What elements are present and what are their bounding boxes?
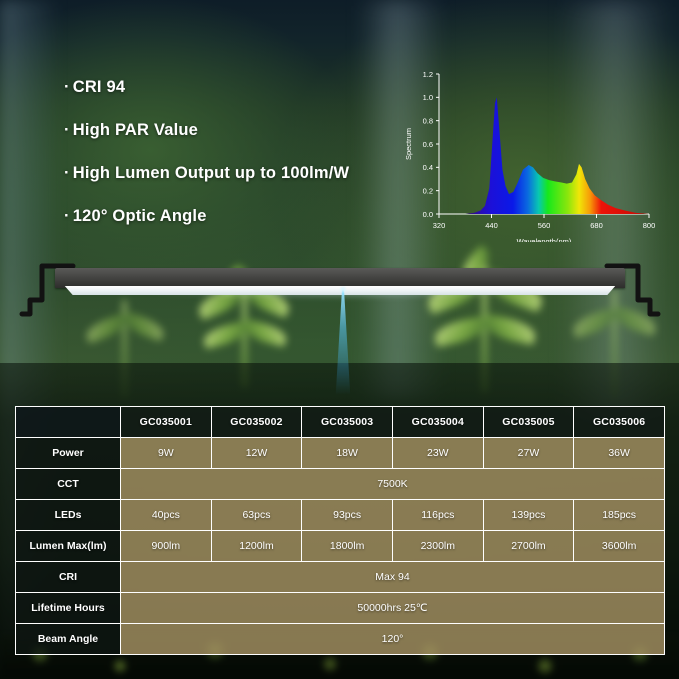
cell-lumen-3: 1800lm (302, 531, 393, 562)
feature-label: CRI 94 (73, 78, 126, 96)
bullet-icon: · (64, 121, 70, 139)
table-header-model: GC035005 (483, 407, 574, 438)
cell-power-5: 27W (483, 438, 574, 469)
table-row: LEDs 40pcs 63pcs 93pcs 116pcs 139pcs 185… (16, 500, 665, 531)
row-label-lumen: Lumen Max(lm) (16, 531, 121, 562)
cell-power-6: 36W (574, 438, 665, 469)
feature-item: ·CRI 94 (64, 78, 404, 97)
cell-leds-1: 40pcs (121, 500, 212, 531)
product-infographic: ·CRI 94 ·High PAR Value ·High Lumen Outp… (0, 0, 679, 679)
cell-leds-3: 93pcs (302, 500, 393, 531)
svg-text:680: 680 (590, 221, 603, 230)
row-label-lifetime: Lifetime Hours (16, 593, 121, 624)
table-corner-cell (16, 407, 121, 438)
row-label-cct: CCT (16, 469, 121, 500)
cell-lumen-5: 2700lm (483, 531, 574, 562)
bullet-icon: · (64, 78, 70, 96)
svg-text:1.0: 1.0 (423, 93, 433, 102)
table-header-model: GC035001 (121, 407, 212, 438)
table-header-model: GC035006 (574, 407, 665, 438)
table-row: Beam Angle 120° (16, 624, 665, 655)
table-row: Lifetime Hours 50000hrs 25℃ (16, 593, 665, 624)
x-axis-label: Wavelength(nm) (517, 237, 572, 242)
bullet-icon: · (64, 207, 70, 225)
cell-lumen-2: 1200lm (211, 531, 302, 562)
spectrum-curve (465, 97, 649, 214)
feature-item: ·120° Optic Angle (64, 207, 404, 226)
cell-cri-all: Max 94 (121, 562, 665, 593)
table-header-model: GC035004 (392, 407, 483, 438)
cell-lifetime-all: 50000hrs 25℃ (121, 593, 665, 624)
cell-beam-angle-all: 120° (121, 624, 665, 655)
specification-table: GC035001 GC035002 GC035003 GC035004 GC03… (15, 406, 665, 655)
table-header-model: GC035002 (211, 407, 302, 438)
led-light-bar (0, 250, 679, 360)
cell-lumen-1: 900lm (121, 531, 212, 562)
spectrum-chart-svg: 0.00.20.40.60.81.01.2320440560680800 Wav… (403, 62, 655, 242)
light-bar-housing (55, 268, 625, 288)
cell-cct-all: 7500K (121, 469, 665, 500)
feature-list: ·CRI 94 ·High PAR Value ·High Lumen Outp… (64, 78, 404, 250)
svg-text:0.6: 0.6 (423, 140, 433, 149)
cell-power-1: 9W (121, 438, 212, 469)
cell-lumen-6: 3600lm (574, 531, 665, 562)
feature-label: 120° Optic Angle (73, 207, 207, 225)
svg-text:0.0: 0.0 (423, 210, 433, 219)
svg-text:0.2: 0.2 (423, 186, 433, 195)
feature-label: High PAR Value (73, 121, 198, 139)
cell-lumen-4: 2300lm (392, 531, 483, 562)
svg-text:320: 320 (433, 221, 446, 230)
cell-power-4: 23W (392, 438, 483, 469)
table-row: CRI Max 94 (16, 562, 665, 593)
table-header-model: GC035003 (302, 407, 393, 438)
cell-power-3: 18W (302, 438, 393, 469)
table-row: Power 9W 12W 18W 23W 27W 36W (16, 438, 665, 469)
cell-leds-2: 63pcs (211, 500, 302, 531)
cell-leds-6: 185pcs (574, 500, 665, 531)
svg-text:1.2: 1.2 (423, 70, 433, 79)
table-header-row: GC035001 GC035002 GC035003 GC035004 GC03… (16, 407, 665, 438)
feature-item: ·High Lumen Output up to 100lm/W (64, 164, 404, 183)
cell-power-2: 12W (211, 438, 302, 469)
svg-text:560: 560 (538, 221, 551, 230)
feature-label: High Lumen Output up to 100lm/W (73, 164, 350, 182)
bullet-icon: · (64, 164, 70, 182)
spectrum-chart: 0.00.20.40.60.81.01.2320440560680800 Wav… (403, 62, 655, 242)
table-row: Lumen Max(lm) 900lm 1200lm 1800lm 2300lm… (16, 531, 665, 562)
svg-text:440: 440 (485, 221, 498, 230)
cell-leds-4: 116pcs (392, 500, 483, 531)
table-row: CCT 7500K (16, 469, 665, 500)
feature-item: ·High PAR Value (64, 121, 404, 140)
row-label-cri: CRI (16, 562, 121, 593)
y-axis-label: Spectrum (404, 128, 413, 160)
svg-text:0.4: 0.4 (423, 163, 433, 172)
svg-text:800: 800 (643, 221, 655, 230)
svg-text:0.8: 0.8 (423, 116, 433, 125)
light-beam-source (338, 286, 348, 293)
row-label-leds: LEDs (16, 500, 121, 531)
row-label-beam-angle: Beam Angle (16, 624, 121, 655)
row-label-power: Power (16, 438, 121, 469)
cell-leds-5: 139pcs (483, 500, 574, 531)
